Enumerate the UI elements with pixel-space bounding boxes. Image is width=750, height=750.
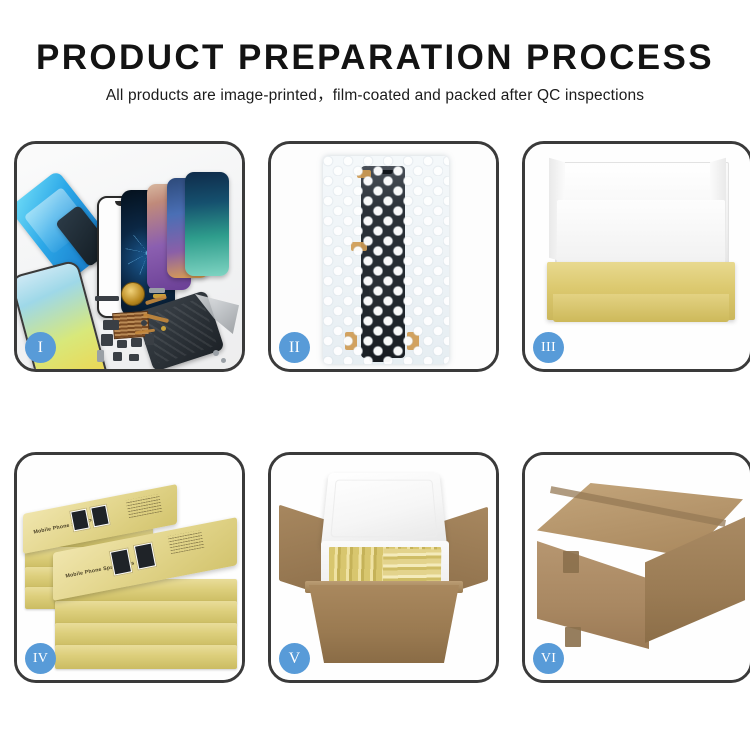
spare-part-chip (117, 340, 127, 348)
speaker-coil-part (121, 282, 145, 306)
process-step-4[interactable]: Mobile Phone Spare Parts Mobile Phone Sp… (14, 452, 245, 683)
kraft-box-front-panel (553, 294, 729, 322)
spare-part-chip (103, 320, 119, 330)
process-step-6[interactable]: VI (522, 452, 750, 683)
box-stack: Mobile Phone Spare Parts Mobile Phone Sp… (23, 483, 242, 673)
step-badge-4: IV (25, 643, 56, 674)
foam-lid (321, 473, 447, 548)
spare-part-screw (213, 350, 219, 356)
tape-patch (563, 551, 579, 573)
carton-body (309, 585, 459, 663)
step-badge-2: II (279, 332, 310, 363)
process-step-3[interactable]: III (522, 141, 750, 372)
stacked-box (55, 623, 237, 647)
tape-patch (565, 627, 581, 647)
page-header: PRODUCT PREPARATION PROCESS All products… (0, 36, 750, 106)
spare-part-chip (113, 352, 122, 361)
process-step-1[interactable]: I (14, 141, 245, 372)
spare-part-screw (221, 358, 226, 363)
spare-part-chip (149, 288, 165, 293)
spare-part-chip (131, 338, 142, 347)
box-window-screen (69, 507, 91, 532)
stacked-box (55, 645, 237, 669)
step-badge-3: III (533, 332, 564, 363)
step-badge-1: I (25, 332, 56, 363)
spare-part-chip (129, 354, 139, 361)
spare-part-chip (145, 334, 154, 345)
step-badge-5: V (279, 643, 310, 674)
bubble-wrap-highlights (323, 156, 449, 364)
spare-part-chip (97, 350, 104, 362)
bubble-wrap-package (323, 156, 449, 364)
phone-display-teal (185, 172, 229, 276)
spare-part-screw (141, 320, 147, 326)
product-preparation-page: PRODUCT PREPARATION PROCESS All products… (0, 0, 750, 750)
spare-part-screw (161, 326, 166, 331)
process-step-5[interactable]: V (268, 452, 499, 683)
page-subtitle: All products are image-printed，film-coat… (0, 86, 750, 106)
step-badge-6: VI (533, 643, 564, 674)
process-step-2[interactable]: II (268, 141, 499, 372)
process-step-grid: I II (14, 141, 736, 683)
page-title: PRODUCT PREPARATION PROCESS (0, 36, 750, 80)
stacked-box (55, 601, 237, 625)
box-window-screen (89, 503, 111, 528)
spare-part-chip (101, 334, 113, 346)
spare-part-chip (95, 296, 119, 301)
